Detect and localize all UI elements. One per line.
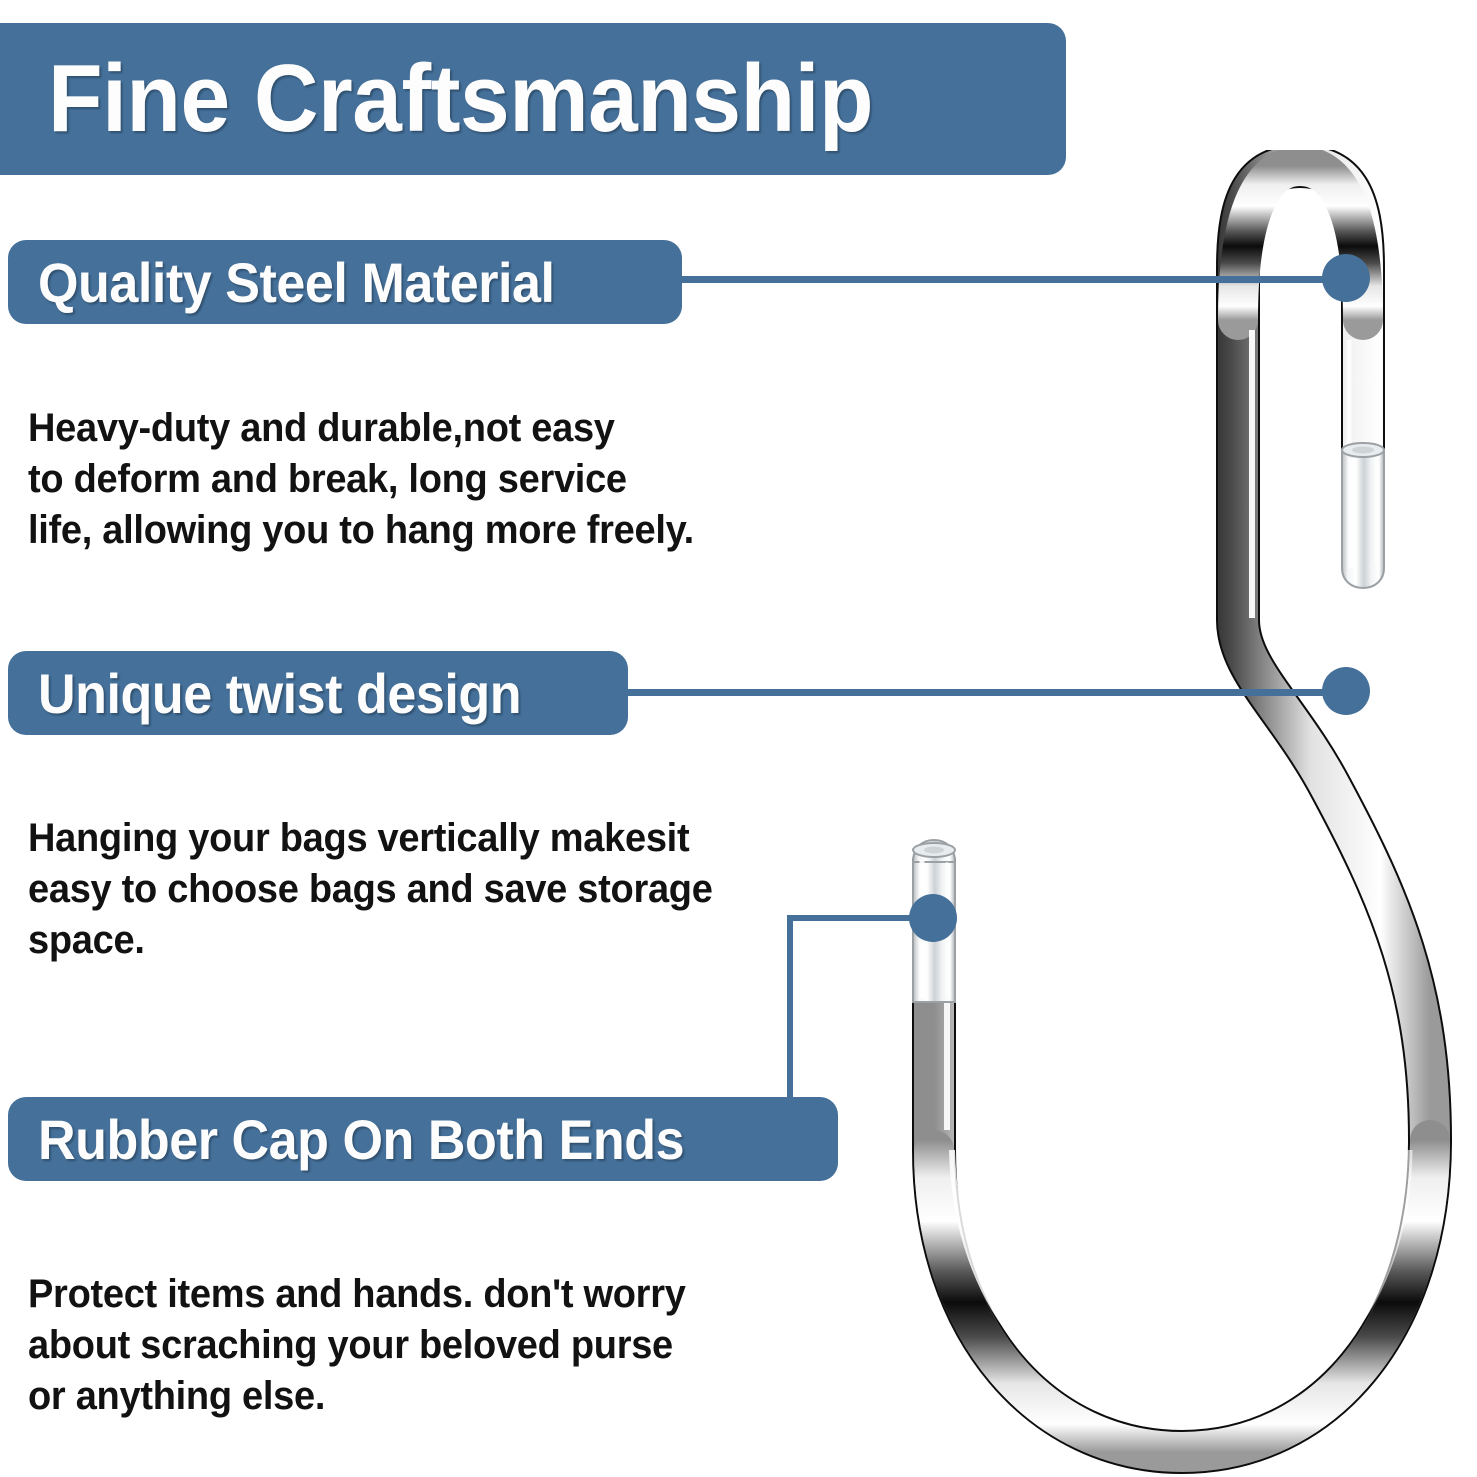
feature-label-text: Rubber Cap On Both Ends (38, 1107, 684, 1172)
feature-label-rubber-cap-on-both-ends: Rubber Cap On Both Ends (8, 1097, 838, 1181)
callout-line-unique-twist-design (626, 689, 1348, 696)
callout-dot-unique-twist-design (1322, 667, 1370, 715)
page-title: Fine Craftsmanship (0, 23, 1066, 175)
feature-label-quality-steel-material: Quality Steel Material (8, 240, 682, 324)
feature-description-text: Protect items and hands. don't worry abo… (28, 1269, 769, 1422)
feature-label-text: Unique twist design (38, 661, 521, 726)
product-feature-infographic: Fine Craftsmanship Quality Steel Materia… (0, 0, 1477, 1477)
feature-description-text: Heavy-duty and durable,not easy to defor… (28, 403, 779, 556)
callout-line-quality-steel-material (680, 276, 1348, 283)
callout-line-vertical-rubber-cap (787, 915, 793, 1105)
callout-dot-quality-steel-material (1322, 254, 1370, 302)
feature-description-quality-steel-material: Heavy-duty and durable,not easy to defor… (28, 352, 818, 607)
feature-description-rubber-cap-on-both-ends: Protect items and hands. don't worry abo… (28, 1218, 808, 1473)
product-photo-hook (830, 150, 1477, 1477)
page-title-text: Fine Craftsmanship (48, 44, 873, 154)
feature-description-unique-twist-design: Hanging your bags vertically makesit eas… (28, 762, 818, 1017)
feature-label-text: Quality Steel Material (38, 250, 555, 315)
feature-description-text: Hanging your bags vertically makesit eas… (28, 813, 779, 966)
callout-dot-rubber-cap-on-both-ends (909, 894, 957, 942)
feature-label-unique-twist-design: Unique twist design (8, 651, 628, 735)
